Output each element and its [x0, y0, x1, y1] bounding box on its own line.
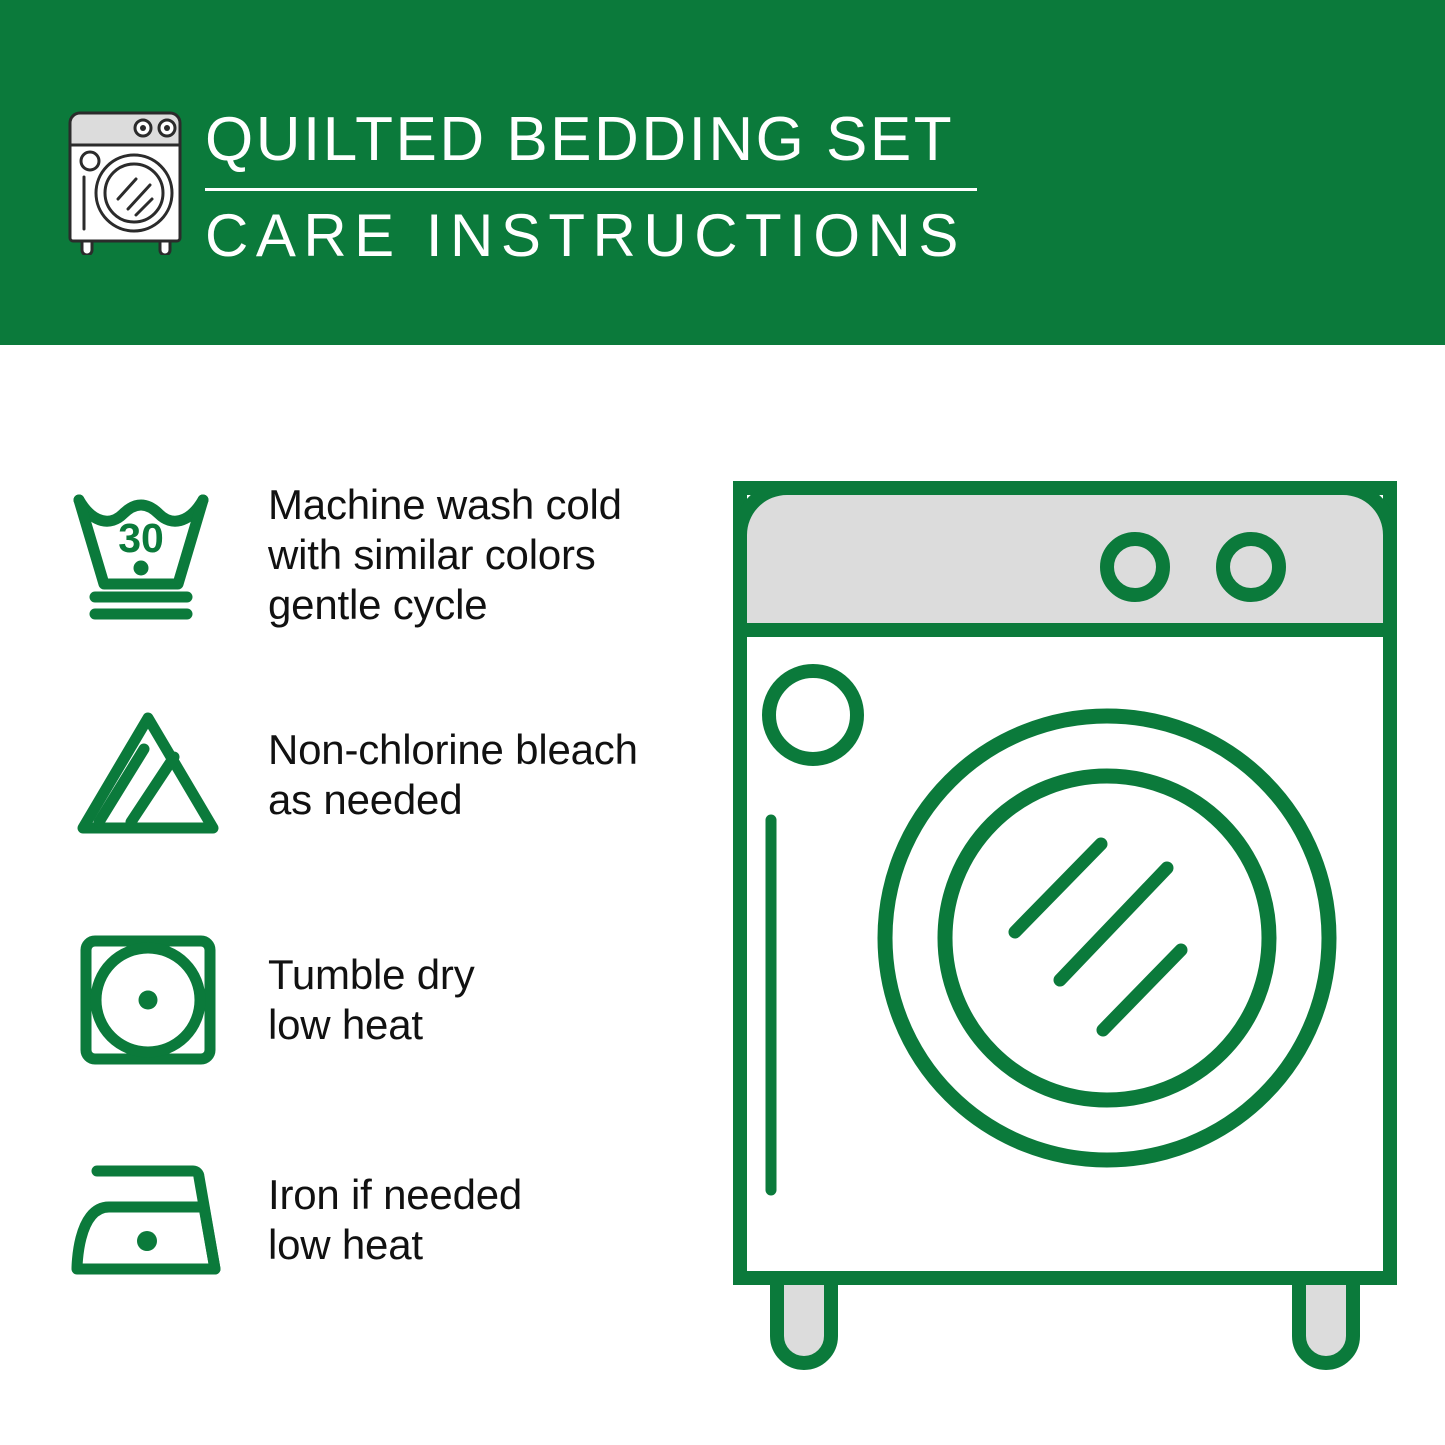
care-item-tumble-dry-text: Tumble dry low heat — [268, 950, 475, 1050]
care-text-line: low heat — [268, 1220, 522, 1270]
care-text-line: with similar colors — [268, 530, 622, 580]
detergent-drawer-knob — [769, 671, 857, 759]
care-item-iron-text: Iron if needed low heat — [268, 1170, 522, 1270]
leg-left — [777, 1278, 831, 1363]
knob-right — [1223, 539, 1279, 595]
care-text-line: Iron if needed — [268, 1170, 522, 1220]
care-instructions-list: 30 Machine wash cold with similar colors… — [0, 345, 700, 1445]
care-text-line: as needed — [268, 775, 638, 825]
control-panel — [740, 488, 1390, 630]
care-text-line: Tumble dry — [268, 950, 475, 1000]
care-instructions-page: QUILTED BEDDING SET CARE INSTRUCTIONS — [0, 0, 1445, 1445]
header-banner: QUILTED BEDDING SET CARE INSTRUCTIONS — [0, 0, 1445, 345]
front-load-washing-machine-illustration — [715, 460, 1415, 1380]
washing-machine-icon — [62, 103, 192, 255]
care-text-line: low heat — [268, 1000, 475, 1050]
page-subtitle: CARE INSTRUCTIONS — [205, 201, 995, 271]
care-item-bleach: Non-chlorine bleach as needed — [0, 685, 700, 865]
header-title-block: QUILTED BEDDING SET CARE INSTRUCTIONS — [205, 104, 995, 271]
non-chlorine-bleach-triangle-icon — [58, 690, 238, 860]
title-divider — [205, 188, 977, 191]
care-item-machine-wash-text: Machine wash cold with similar colors ge… — [268, 480, 622, 630]
leg-right — [1299, 1278, 1353, 1363]
care-text-line: Non-chlorine bleach — [268, 725, 638, 775]
care-item-bleach-text: Non-chlorine bleach as needed — [268, 725, 638, 825]
care-item-tumble-dry: Tumble dry low heat — [0, 910, 700, 1090]
page-title: QUILTED BEDDING SET — [205, 104, 995, 176]
wash-temperature-label: 30 — [118, 515, 164, 561]
care-text-line: Machine wash cold — [268, 480, 622, 530]
wash-tub-30-gentle-icon: 30 — [58, 470, 238, 640]
care-item-machine-wash: 30 Machine wash cold with similar colors… — [0, 465, 700, 645]
tumble-dry-low-heat-icon — [58, 915, 238, 1085]
iron-low-heat-icon — [58, 1135, 238, 1305]
care-item-iron: Iron if needed low heat — [0, 1130, 700, 1310]
care-text-line: gentle cycle — [268, 580, 622, 630]
knob-left — [1107, 539, 1163, 595]
